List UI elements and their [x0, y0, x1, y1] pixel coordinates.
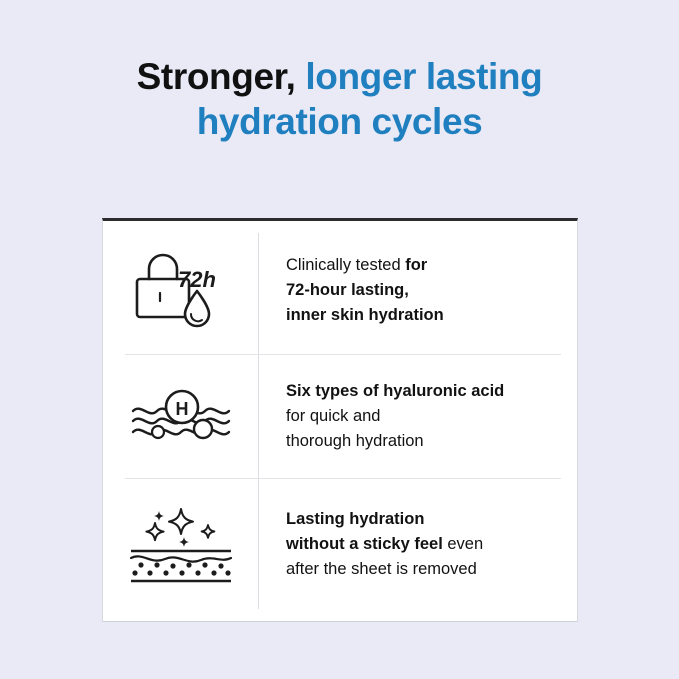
- page-title-line-2: hydration cycles: [0, 99, 679, 144]
- hyaluronic-initial-label: H: [175, 399, 188, 419]
- feature-text-regular: for quick and: [286, 407, 380, 425]
- feature-text-bold: without a sticky feel: [286, 535, 443, 553]
- feature-row: H Six types of hyaluronic acid for quick…: [103, 354, 577, 478]
- feature-text-cell: Lasting hydration without a sticky feel …: [258, 507, 493, 582]
- feature-text-cell: Clinically tested for 72-hour lasting, i…: [258, 253, 454, 328]
- sparkles-skin-layer-icon: [129, 503, 233, 585]
- feature-text-bold: inner skin hydration: [286, 306, 444, 324]
- feature-text-line: for quick and: [286, 404, 504, 429]
- feature-text-line: Six types of hyaluronic acid: [286, 379, 504, 404]
- feature-text-line: Lasting hydration: [286, 507, 483, 532]
- feature-text-regular: thorough hydration: [286, 432, 424, 450]
- feature-text-bold: Six types of hyaluronic acid: [286, 382, 504, 400]
- feature-text-line: after the sheet is removed: [286, 557, 483, 582]
- feature-text-line: inner skin hydration: [286, 303, 444, 328]
- feature-text-line: without a sticky feel even: [286, 532, 483, 557]
- feature-icon-cell: [103, 503, 258, 585]
- feature-text-bold: Lasting hydration: [286, 510, 424, 528]
- page-title-segment-dark: Stronger,: [137, 56, 296, 97]
- feature-text-bold: for: [405, 256, 427, 274]
- feature-text-line: Clinically tested for: [286, 253, 444, 278]
- padlock-duration-label: 72h: [178, 267, 216, 292]
- feature-text-regular: after the sheet is removed: [286, 560, 477, 578]
- feature-row: 72h Clinically tested for 72-hour lastin…: [103, 226, 577, 354]
- page-title: Stronger, longer lasting hydration cycle…: [0, 54, 679, 144]
- feature-text-line: thorough hydration: [286, 429, 504, 454]
- feature-text-regular: even: [443, 535, 483, 553]
- feature-icon-cell: 72h: [103, 249, 258, 331]
- feature-row-list: 72h Clinically tested for 72-hour lastin…: [103, 221, 577, 621]
- feature-row: Lasting hydration without a sticky feel …: [103, 478, 577, 610]
- feature-card: 72h Clinically tested for 72-hour lastin…: [102, 218, 578, 622]
- feature-icon-cell: H: [103, 385, 258, 447]
- hyaluronic-water-waves-icon: H: [131, 385, 231, 447]
- page-title-line-1: Stronger, longer lasting: [0, 54, 679, 99]
- feature-text-cell: Six types of hyaluronic acid for quick a…: [258, 379, 514, 454]
- feature-text-regular: Clinically tested: [286, 256, 405, 274]
- page-title-segment-blue: longer lasting: [305, 56, 542, 97]
- feature-text-line: 72-hour lasting,: [286, 278, 444, 303]
- feature-text-bold: 72-hour lasting,: [286, 281, 409, 299]
- page-title-segment-blue-2: hydration cycles: [197, 101, 483, 142]
- padlock-72h-droplet-icon: 72h: [133, 249, 229, 331]
